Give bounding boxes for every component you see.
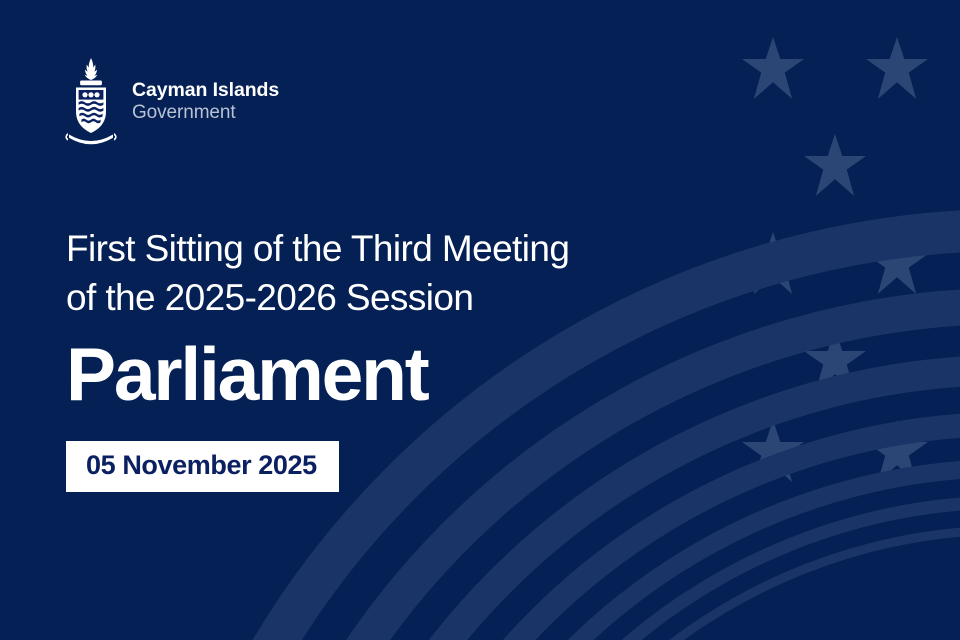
star-icon-6: [804, 329, 866, 391]
logo-line-cayman-islands: Cayman Islands: [132, 80, 279, 102]
parliament-announcement-banner: Cayman Islands Government First Sitting …: [0, 0, 960, 640]
government-logo[interactable]: Cayman Islands Government: [64, 56, 279, 148]
cayman-coat-of-arms-icon: [64, 56, 118, 148]
meeting-subtitle-line-2: of the 2025-2026 Session: [66, 277, 473, 318]
star-icon-7: [742, 420, 804, 482]
page-title: Parliament: [66, 336, 686, 413]
star-icon-3: [804, 134, 866, 196]
announcement-content: First Sitting of the Third Meeting of th…: [66, 224, 686, 492]
meeting-subtitle: First Sitting of the Third Meeting of th…: [66, 224, 686, 322]
star-icon-2: [866, 37, 928, 99]
logo-line-government: Government: [132, 102, 279, 123]
star-icon-1: [742, 37, 804, 99]
meeting-subtitle-line-1: First Sitting of the Third Meeting: [66, 228, 569, 269]
logo-wordmark: Cayman Islands Government: [132, 80, 279, 123]
star-icon-8: [866, 420, 928, 482]
date-badge: 05 November 2025: [66, 441, 339, 492]
star-icon-4: [742, 232, 804, 294]
star-icon-5: [866, 232, 928, 294]
